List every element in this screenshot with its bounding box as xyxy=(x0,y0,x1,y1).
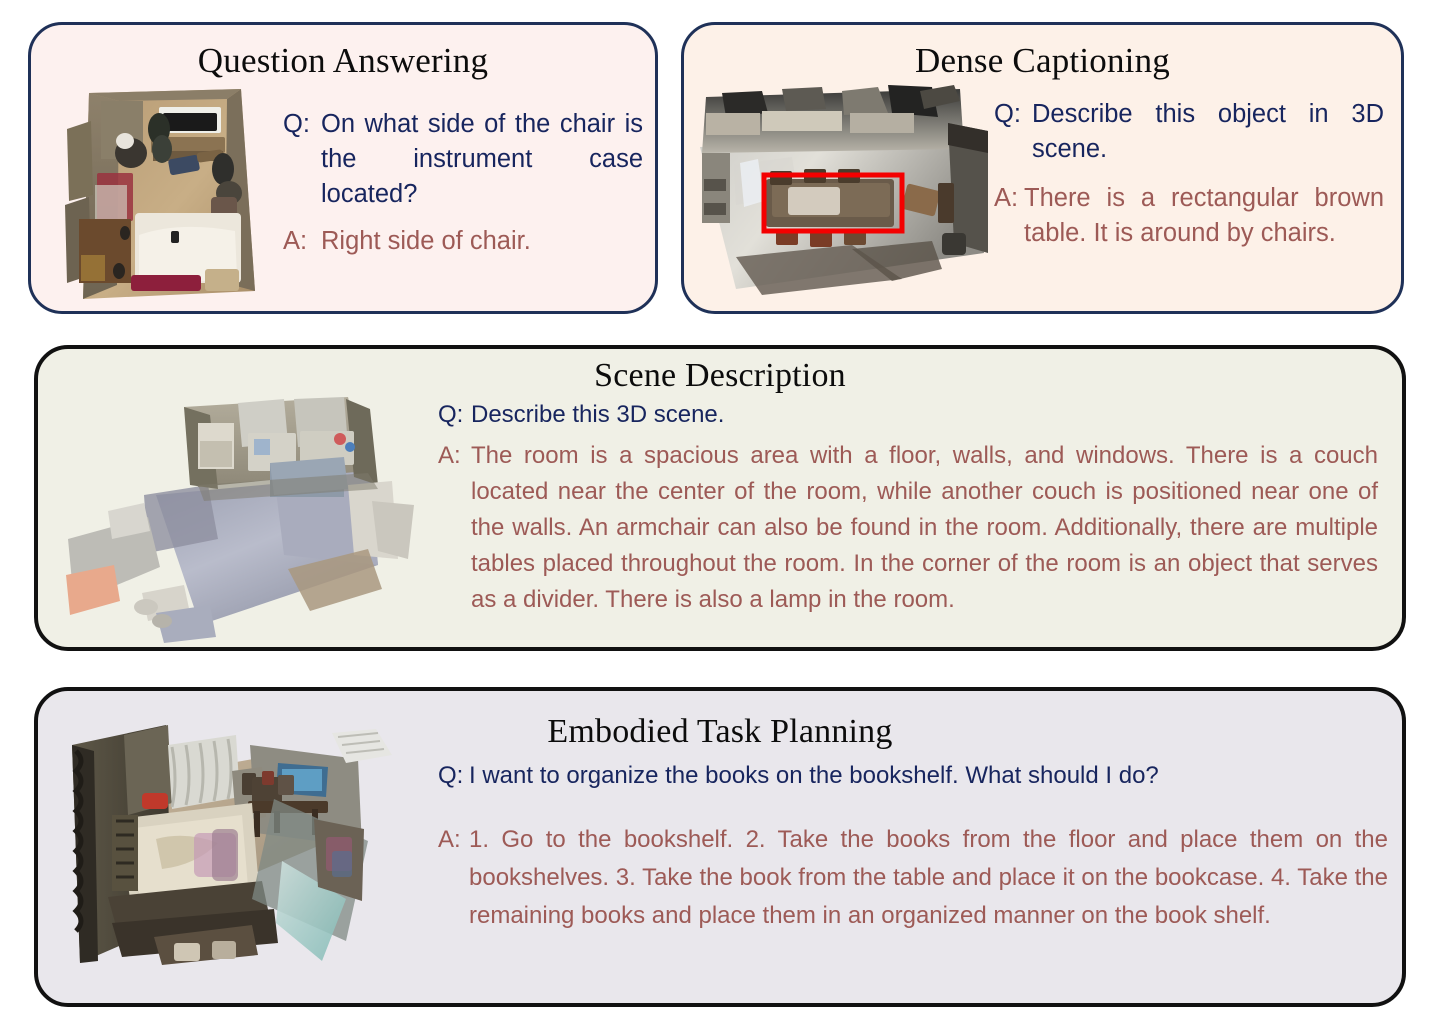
scene-thumbnail-scene-description xyxy=(48,389,448,647)
scene-thumbnail-embodied-task-planning xyxy=(46,711,406,1003)
scene-thumbnail-dense-captioning xyxy=(692,83,992,303)
question-row: Q: Describe this 3D scene. xyxy=(438,397,1378,433)
scene-thumbnail-question-answering xyxy=(59,85,267,307)
answer-row: A: 1. Go to the bookshelf. 2. Take the b… xyxy=(438,821,1388,935)
qa-text-block-question-answering: Q: On what side of the chair is the inst… xyxy=(283,107,643,259)
panel-embodied-task-planning: Embodied Task Planning xyxy=(34,687,1406,1007)
question-tag: Q: xyxy=(283,107,321,142)
answer-tag: A: xyxy=(994,181,1024,216)
point-cloud-render-conference-room xyxy=(692,83,992,303)
question-text: Describe this 3D scene. xyxy=(471,397,1378,433)
panel-scene-description: Scene Description xyxy=(34,345,1406,651)
question-tag: Q: xyxy=(994,97,1032,132)
question-text: I want to organize the books on the book… xyxy=(469,757,1388,795)
qa-text-block-scene-description: Q: Describe this 3D scene. A: The room i… xyxy=(438,397,1378,618)
point-cloud-render-bedroom-bookshelf xyxy=(46,711,406,1003)
question-text: On what side of the chair is the instrum… xyxy=(321,107,643,212)
answer-text: There is a rectangular brown table. It i… xyxy=(1024,181,1384,251)
panel-dense-captioning: Dense Captioning xyxy=(681,22,1404,314)
answer-tag: A: xyxy=(283,224,321,259)
qa-text-block-dense-captioning: Q: Describe this object in 3D scene. A: … xyxy=(994,97,1384,251)
point-cloud-render-bedroom xyxy=(59,85,267,307)
question-tag: Q: xyxy=(438,397,471,433)
answer-row: A: The room is a spacious area with a fl… xyxy=(438,438,1378,618)
answer-tag: A: xyxy=(438,821,469,859)
question-row: Q: I want to organize the books on the b… xyxy=(438,757,1388,795)
question-row: Q: Describe this object in 3D scene. xyxy=(994,97,1384,167)
panel-title-dense-captioning: Dense Captioning xyxy=(684,41,1401,81)
question-row: Q: On what side of the chair is the inst… xyxy=(283,107,643,212)
answer-row: A: There is a rectangular brown table. I… xyxy=(994,181,1384,251)
panel-question-answering: Question Answering xyxy=(28,22,658,314)
panel-title-question-answering: Question Answering xyxy=(31,41,655,81)
question-text: Describe this object in 3D scene. xyxy=(1032,97,1384,167)
question-tag: Q: xyxy=(438,757,469,795)
point-cloud-render-living-room xyxy=(48,389,448,647)
qa-text-block-embodied-task-planning: Q: I want to organize the books on the b… xyxy=(438,757,1388,935)
answer-text: Right side of chair. xyxy=(321,224,643,259)
answer-row: A: Right side of chair. xyxy=(283,224,643,259)
answer-tag: A: xyxy=(438,438,471,474)
answer-text: The room is a spacious area with a floor… xyxy=(471,438,1378,618)
answer-text: 1. Go to the bookshelf. 2. Take the book… xyxy=(469,821,1388,935)
